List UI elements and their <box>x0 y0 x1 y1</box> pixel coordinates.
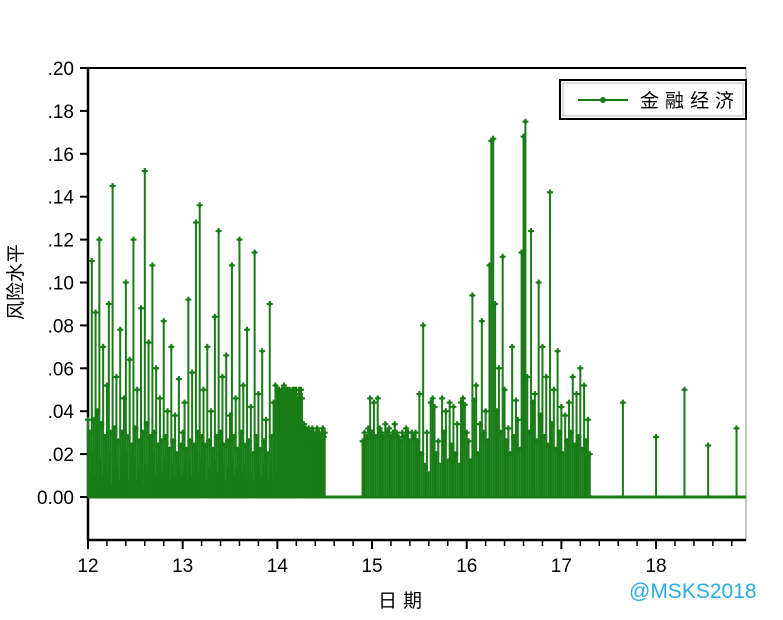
data-point <box>516 418 520 422</box>
data-point <box>507 427 511 431</box>
data-point <box>735 427 739 431</box>
data-point <box>393 422 397 426</box>
x-tick-label: 12 <box>77 556 98 577</box>
legend-label-jinrong-jingji: 金 融 经 济 <box>640 90 734 112</box>
data-point <box>124 281 128 285</box>
data-point <box>575 392 579 396</box>
data-point <box>166 409 170 413</box>
data-point <box>300 397 304 401</box>
data-point <box>510 345 514 349</box>
data-point <box>321 427 325 431</box>
data-point <box>158 397 162 401</box>
data-point <box>529 229 533 233</box>
data-point <box>541 345 545 349</box>
data-point <box>418 392 422 396</box>
data-point <box>198 203 202 207</box>
y-tick-label: .04 <box>48 402 75 423</box>
data-point <box>474 384 478 388</box>
data-point <box>491 137 495 141</box>
data-point <box>588 452 592 456</box>
data-point <box>260 349 264 353</box>
data-point <box>368 397 372 401</box>
data-point <box>170 345 174 349</box>
y-tick-label: 0.00 <box>37 488 74 509</box>
x-tick-label: 15 <box>361 556 382 577</box>
data-point <box>378 427 382 431</box>
data-point <box>524 120 528 124</box>
data-point <box>135 388 139 392</box>
data-point <box>437 439 441 443</box>
data-point <box>209 409 213 413</box>
data-point <box>582 384 586 388</box>
data-point <box>162 319 166 323</box>
data-point <box>514 399 518 403</box>
data-point <box>467 439 471 443</box>
data-point <box>440 397 444 401</box>
data-point <box>397 435 401 439</box>
data-point <box>194 221 198 225</box>
data-point <box>139 306 143 310</box>
data-point <box>383 422 387 426</box>
data-point <box>567 401 571 405</box>
data-point <box>372 401 376 405</box>
data-point <box>552 388 556 392</box>
data-point <box>433 405 437 409</box>
data-point <box>154 367 158 371</box>
y-tick-label: .16 <box>48 145 74 166</box>
data-point <box>183 401 187 405</box>
y-tick-label: .08 <box>48 316 74 337</box>
data-point <box>323 431 327 435</box>
y-tick-label: .02 <box>48 445 74 466</box>
y-axis-title: 风险水平 <box>5 244 27 320</box>
data-point <box>376 397 380 401</box>
data-point <box>621 401 625 405</box>
data-point <box>452 405 456 409</box>
data-point <box>571 375 575 379</box>
data-point <box>401 431 405 435</box>
data-point <box>217 229 221 233</box>
data-point <box>533 392 537 396</box>
data-point <box>544 375 548 379</box>
data-point <box>118 328 122 332</box>
y-tick-label: .12 <box>48 231 74 252</box>
data-point <box>414 431 418 435</box>
data-point <box>177 377 181 381</box>
data-point <box>501 255 505 259</box>
data-point <box>395 431 399 435</box>
y-tick-label: .10 <box>48 274 74 295</box>
data-point <box>548 191 552 195</box>
data-point <box>187 298 191 302</box>
data-point <box>480 319 484 323</box>
data-point <box>503 388 507 392</box>
data-point <box>425 431 429 435</box>
data-point <box>90 259 94 263</box>
x-tick-label: 17 <box>551 556 572 577</box>
data-point <box>465 431 469 435</box>
data-point <box>683 388 687 392</box>
x-tick-label: 13 <box>172 556 193 577</box>
data-point <box>484 409 488 413</box>
data-point <box>147 341 151 345</box>
x-tick-label: 14 <box>267 556 289 577</box>
data-point <box>202 388 206 392</box>
data-point <box>404 427 408 431</box>
data-point <box>107 302 111 306</box>
data-point <box>556 349 560 353</box>
data-point <box>115 375 119 379</box>
data-point <box>493 302 497 306</box>
data-point <box>302 422 306 426</box>
data-point <box>274 384 278 388</box>
y-tick-label: .06 <box>48 359 74 380</box>
data-point <box>143 169 147 173</box>
data-point <box>249 405 253 409</box>
data-point <box>151 264 155 268</box>
data-point <box>421 324 425 328</box>
legend[interactable]: 金 融 经 济 <box>560 80 746 119</box>
data-point <box>463 403 467 407</box>
data-point <box>221 375 225 379</box>
y-tick-label: .20 <box>48 59 74 80</box>
data-point <box>230 264 234 268</box>
data-point <box>586 418 590 422</box>
data-point <box>461 397 465 401</box>
data-point <box>444 409 448 413</box>
data-point <box>94 311 98 315</box>
chart-container: 0.00.02.04.06.08.10.12.14.16.18.20 12131… <box>0 0 783 620</box>
data-point <box>111 184 115 188</box>
data-point <box>387 427 391 431</box>
watermark-msks2018: @MSKS2018 <box>629 580 757 603</box>
data-point <box>311 427 315 431</box>
data-point <box>448 401 452 405</box>
data-point <box>213 315 217 319</box>
data-point <box>654 435 658 439</box>
data-point <box>537 281 541 285</box>
x-tick-label: 16 <box>456 556 477 577</box>
data-point <box>563 414 567 418</box>
data-point <box>315 427 319 431</box>
data-point <box>525 375 529 379</box>
data-point <box>241 384 245 388</box>
data-point <box>101 345 105 349</box>
data-point <box>224 354 228 358</box>
data-point <box>132 238 136 242</box>
data-point <box>497 367 501 371</box>
data-point <box>245 328 249 332</box>
y-tick-label: .14 <box>48 188 75 209</box>
data-point <box>431 397 435 401</box>
data-point <box>471 294 475 298</box>
data-point <box>86 418 90 422</box>
data-point <box>455 422 459 426</box>
x-tick-label: 18 <box>645 556 666 577</box>
data-point <box>282 384 286 388</box>
data-point <box>257 392 261 396</box>
data-point <box>98 238 102 242</box>
data-point <box>560 405 564 409</box>
data-point <box>205 345 209 349</box>
risk-level-line-chart: 0.00.02.04.06.08.10.12.14.16.18.20 12131… <box>0 0 783 620</box>
data-point <box>380 431 384 435</box>
data-point <box>190 371 194 375</box>
data-point <box>264 418 268 422</box>
data-point <box>706 444 710 448</box>
legend-marker-icon <box>600 97 606 103</box>
data-point <box>234 397 238 401</box>
x-axis-title: 日 期 <box>378 590 422 612</box>
data-point <box>253 251 257 255</box>
data-point <box>299 388 303 392</box>
data-point <box>238 238 242 242</box>
data-point <box>173 414 177 418</box>
data-point <box>268 302 272 306</box>
data-point <box>128 358 132 362</box>
data-point <box>363 431 367 435</box>
y-tick-label: .18 <box>48 102 74 123</box>
data-point <box>579 367 583 371</box>
